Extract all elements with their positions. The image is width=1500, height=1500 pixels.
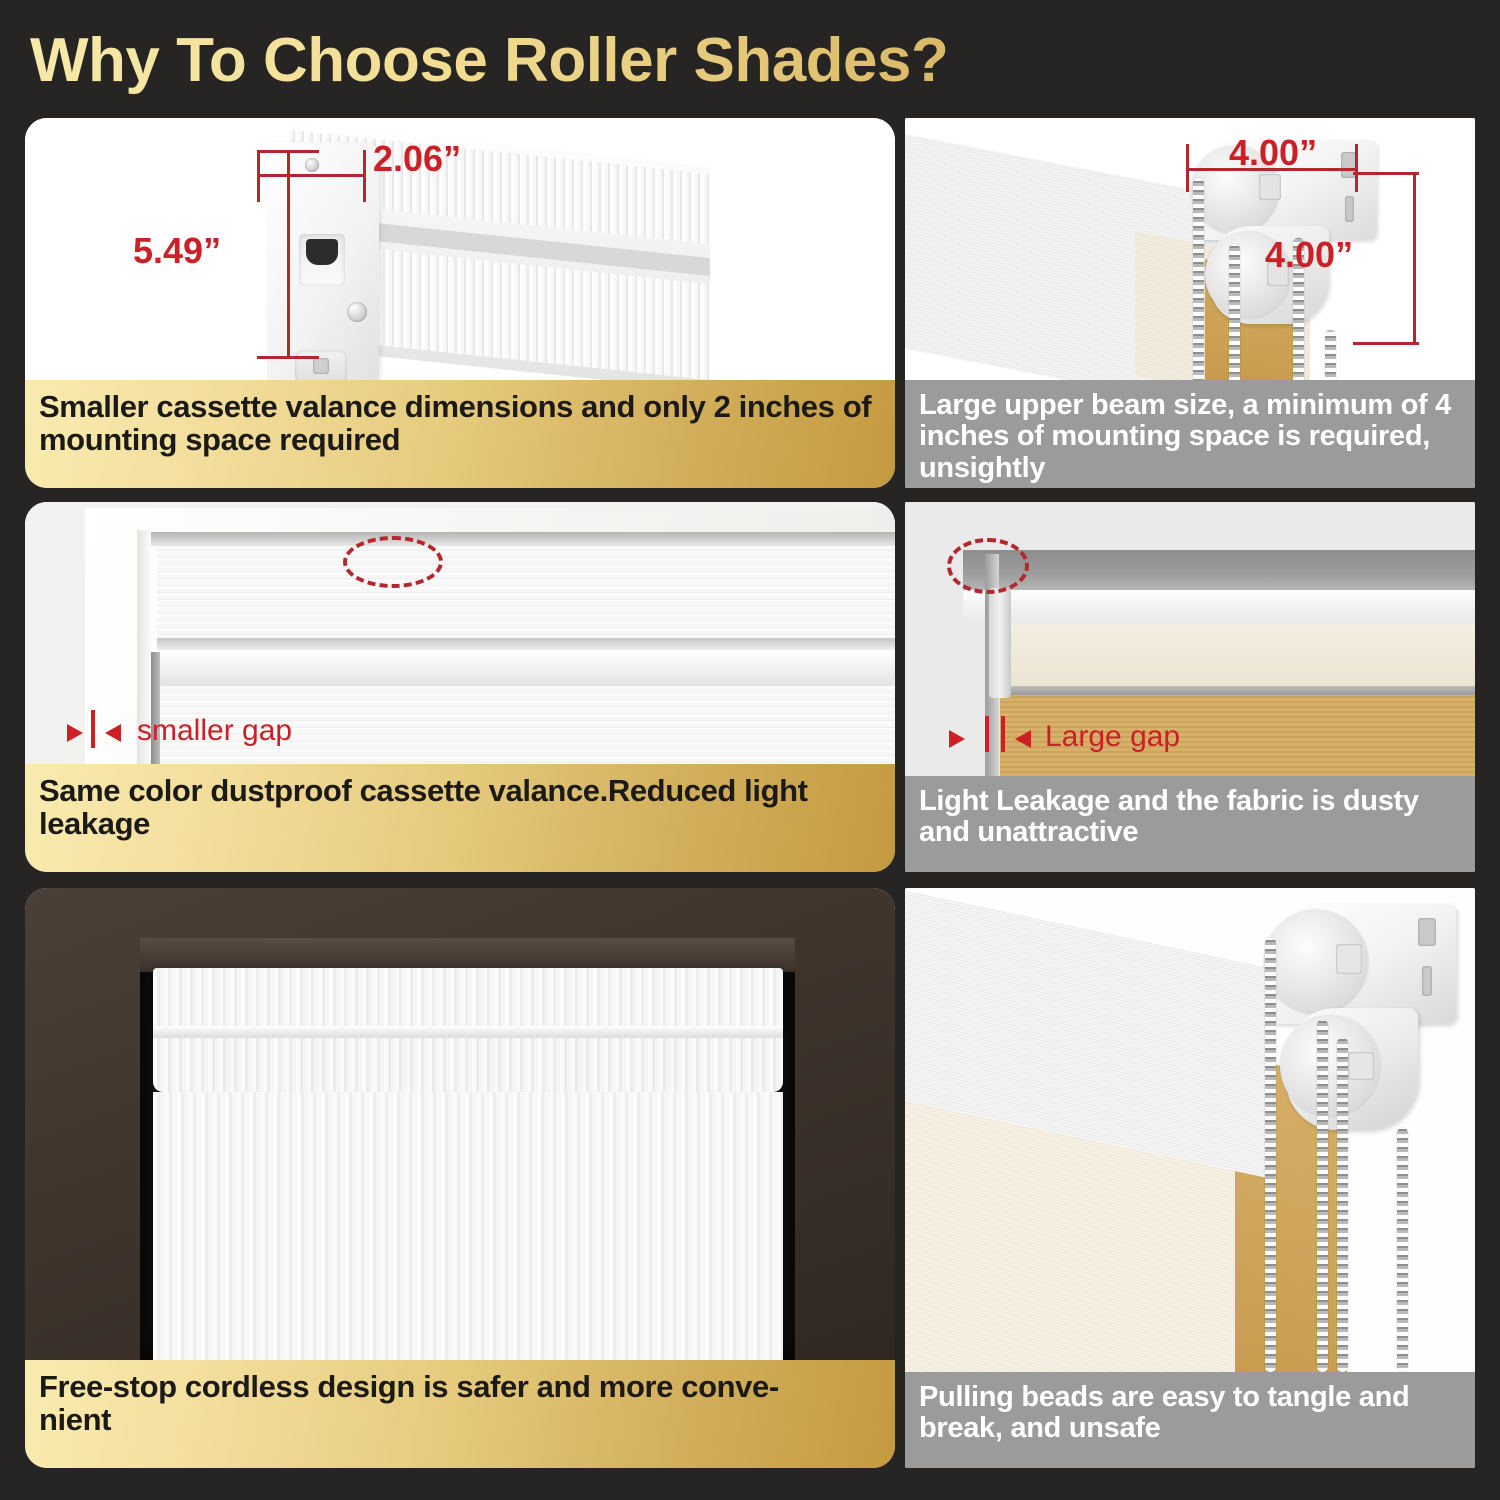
gap-label-smaller: smaller gap [137,714,292,748]
bracket-notch-b [1345,196,1354,222]
shade-cassette-valance [153,968,783,1026]
dim-width-line [257,174,365,177]
gap-label-large: Large gap [1045,720,1180,754]
panel-smaller-gap: smaller gap Same color dustproof cassett… [25,502,895,872]
window-top-lip [140,938,795,972]
smaller-gap-photo: smaller gap [25,502,895,764]
bead-bracket-notch-b [1422,966,1432,996]
dim-width-label: 2.06” [373,138,461,180]
bead-bracket-clip-upper [1336,944,1362,974]
beam-top-dark [963,550,1475,590]
shade-fabric-separator [157,638,895,650]
large-gap-tick-1 [985,716,989,752]
cream-fabric-band [997,624,1475,686]
large-gap-tick-2 [1001,716,1005,752]
dim-height-line [287,150,290,358]
shade-valance-lip [153,1026,783,1038]
panel-large-gap: Large gap Light Leakage and the fabric i… [905,502,1475,872]
panel-pulling-beads: Pulling beads are easy to tangle and bre… [905,888,1475,1468]
beam-width-label: 4.00” [1229,132,1317,174]
side-bracket [989,588,1011,698]
caption-cassette-dimensions: Smaller cassette valance dimensions and … [25,380,895,488]
bead-bracket-notch-a [1418,918,1436,946]
dim-height-tick-bottom [257,356,319,359]
gap-arrow-left [67,724,83,742]
pull-bead-chain-1 [1265,938,1276,1372]
room-window-photo [25,888,895,1360]
metal-edge-strip [997,686,1475,695]
cassette-screw-mid [347,302,367,322]
beam-width-tick-right [1355,144,1358,192]
shade-roll-section [153,1038,783,1092]
dim-width-tick-right [363,150,366,202]
bracket-clip-icon [1259,174,1281,200]
pull-bead-chain-3 [1337,1038,1348,1372]
caption-large-gap: Light Leakage and the fabric is dusty an… [905,776,1475,872]
cassette-slot [299,234,345,286]
bead-bracket-lower [1286,1008,1418,1130]
caption-cordless-design: Free-stop cordless design is safer and m… [25,1360,895,1468]
beam-height-line [1413,172,1416,344]
cassette-screw-top [305,158,319,172]
caption-pulling-beads: Pulling beads are easy to tangle and bre… [905,1372,1475,1468]
bead-bracket-clip-lower [1348,1052,1374,1080]
large-gap-arrow-left [949,730,965,748]
caption-large-upper-beam: Large upper beam size, a minimum of 4 in… [905,380,1475,488]
panel-cassette-dimensions: 2.06” 5.49” Smaller cassette valance dim… [25,118,895,488]
gap-arrow-right [105,724,121,742]
bead-bracket-upper [1270,904,1456,1024]
beam-height-tick-top [1353,172,1419,175]
shade-roller-tube [157,650,895,686]
panel-large-upper-beam: 4.00” 4.00” Large upper beam size, a min… [905,118,1475,488]
large-beam-photo: 4.00” 4.00” [905,118,1475,380]
beam-bottom-light [963,590,1475,624]
bead-shade-bracket [1260,904,1460,1134]
gap-tick-mark [91,710,95,748]
large-gap-arrow-right [1015,730,1031,748]
large-gap-photo: Large gap [905,502,1475,776]
panel-cordless-design: Free-stop cordless design is safer and m… [25,888,895,1468]
dim-height-label: 5.49” [133,230,221,272]
large-gap-highlight-ellipse [947,538,1029,594]
comparison-grid: 2.06” 5.49” Smaller cassette valance dim… [0,0,1500,1500]
pull-bead-chain-4 [1397,1128,1408,1372]
pulling-beads-photo [905,888,1475,1372]
shade-fabric-upper [157,546,895,638]
cassette-valance-photo: 2.06” 5.49” [25,118,895,380]
beam-height-tick-bottom [1353,342,1419,345]
pull-bead-chain-2 [1317,1020,1328,1372]
beam-height-label: 4.00” [1265,234,1353,276]
caption-smaller-gap: Same color dustproof cassette valance.Re… [25,764,895,872]
cassette-header-bar [151,532,895,546]
gap-highlight-ellipse [343,536,443,588]
